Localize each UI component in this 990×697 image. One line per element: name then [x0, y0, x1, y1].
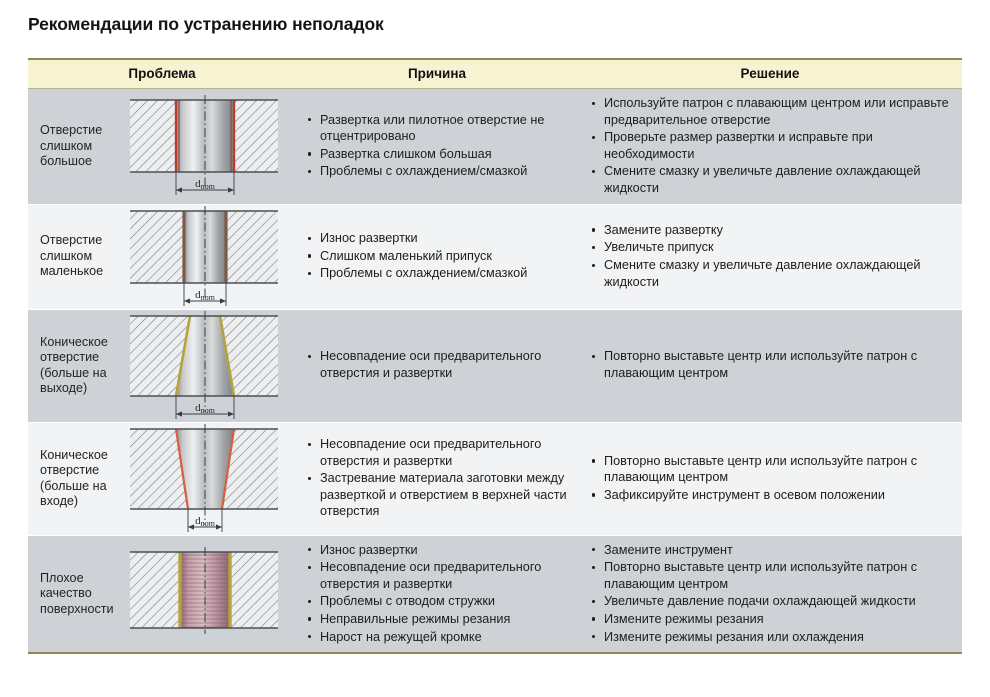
table-row: Плохое качество поверхностиИзнос разверт…	[28, 535, 962, 652]
problem-label: Отверстие слишком маленькое	[28, 233, 124, 280]
solution-item: Повторно выставьте центр или используйте…	[590, 453, 954, 486]
cause-item: Несовпадение оси предварительного отверс…	[306, 436, 572, 469]
cell-solution: Замените разверткуУвеличьте припускСмени…	[578, 204, 962, 309]
svg-text:dnom: dnom	[195, 402, 216, 415]
column-header-solution: Решение	[578, 60, 962, 89]
solution-item: Повторно выставьте центр или используйте…	[590, 348, 954, 381]
cell-problem: Коническое отверстие (больше на выходе)d…	[28, 309, 296, 422]
solution-item: Смените смазку и увеличьте давление охла…	[590, 163, 954, 196]
solution-item: Используйте патрон с плавающим центром и…	[590, 95, 954, 128]
problem-label: Плохое качество поверхности	[28, 571, 124, 618]
solution-item: Замените развертку	[590, 222, 954, 239]
solution-item: Замените инструмент	[590, 542, 954, 559]
solution-list: Замените инструментПовторно выставьте це…	[578, 536, 962, 653]
cause-list: Развертка или пилотное отверстие не отце…	[296, 106, 578, 187]
table-row: Коническое отверстие (больше на выходе)d…	[28, 309, 962, 422]
troubleshooting-table-wrapper: Проблема Причина Решение Отверстие слишк…	[28, 58, 962, 654]
cell-problem: Отверстие слишком маленькоеdnom	[28, 204, 296, 309]
cause-list: Износ разверткиНесовпадение оси предвари…	[296, 536, 578, 653]
problem-inner: Отверстие слишком маленькоеdnom	[28, 205, 296, 309]
table-body: Отверстие слишком большоеdnomРазвертка и…	[28, 89, 962, 653]
solution-list: Повторно выставьте центр или используйте…	[578, 342, 962, 388]
table-header: Проблема Причина Решение	[28, 60, 962, 89]
cell-problem: Отверстие слишком большоеdnom	[28, 89, 296, 205]
cause-list: Износ разверткиСлишком маленький припуск…	[296, 224, 578, 289]
cell-cause: Износ разверткиСлишком маленький припуск…	[296, 204, 578, 309]
page-title: Рекомендации по устранению неполадок	[28, 14, 384, 35]
cause-item: Проблемы с отводом стружки	[306, 593, 572, 610]
cell-solution: Повторно выставьте центр или используйте…	[578, 422, 962, 535]
problem-label: Коническое отверстие (больше на входе)	[28, 448, 124, 510]
problem-inner: Отверстие слишком большоеdnom	[28, 94, 296, 198]
solution-item: Измените режимы резания или охлаждения	[590, 629, 954, 646]
svg-text:dnom: dnom	[195, 515, 216, 528]
solution-list: Замените разверткуУвеличьте припускСмени…	[578, 216, 962, 297]
tapered-hole-wider-at-entry-section-icon: dnom	[124, 423, 284, 535]
troubleshooting-table: Проблема Причина Решение Отверстие слишк…	[28, 60, 962, 652]
problem-label: Отверстие слишком большое	[28, 123, 124, 170]
solution-item: Проверьте размер развертки и исправьте п…	[590, 129, 954, 162]
problem-inner: Плохое качество поверхности	[28, 546, 296, 642]
cause-item: Неправильные режимы резания	[306, 611, 572, 628]
table-row: Отверстие слишком маленькоеdnomИзнос раз…	[28, 204, 962, 309]
solution-item: Повторно выставьте центр или используйте…	[590, 559, 954, 592]
hole-too-small-section-icon: dnom	[124, 205, 284, 309]
cell-solution: Повторно выставьте центр или используйте…	[578, 309, 962, 422]
cause-item: Слишком маленький припуск	[306, 248, 572, 265]
cause-list: Несовпадение оси предварительного отверс…	[296, 430, 578, 527]
solution-item: Зафиксируйте инструмент в осевом положен…	[590, 487, 954, 504]
solution-list: Используйте патрон с плавающим центром и…	[578, 89, 962, 204]
solution-item: Увеличьте давление подачи охлаждающей жи…	[590, 593, 954, 610]
cause-item: Нарост на режущей кромке	[306, 629, 572, 646]
cell-problem: Коническое отверстие (больше на входе)dn…	[28, 422, 296, 535]
table-row: Отверстие слишком большоеdnomРазвертка и…	[28, 89, 962, 205]
solution-item: Измените режимы резания	[590, 611, 954, 628]
cell-solution: Используйте патрон с плавающим центром и…	[578, 89, 962, 205]
cause-item: Проблемы с охлаждением/смазкой	[306, 265, 572, 282]
cause-item: Несовпадение оси предварительного отверс…	[306, 559, 572, 592]
cell-solution: Замените инструментПовторно выставьте це…	[578, 535, 962, 652]
problem-inner: Коническое отверстие (больше на выходе)d…	[28, 310, 296, 422]
tapered-hole-wider-at-exit-section-icon: dnom	[124, 310, 284, 422]
cell-cause: Развертка или пилотное отверстие не отце…	[296, 89, 578, 205]
table-row: Коническое отверстие (больше на входе)dn…	[28, 422, 962, 535]
cell-cause: Износ разверткиНесовпадение оси предвари…	[296, 535, 578, 652]
column-header-cause: Причина	[296, 60, 578, 89]
troubleshooting-page: Рекомендации по устранению неполадок Про…	[0, 0, 990, 697]
cause-item: Износ развертки	[306, 542, 572, 559]
problem-label: Коническое отверстие (больше на выходе)	[28, 335, 124, 397]
cause-item: Развертка слишком большая	[306, 146, 572, 163]
cell-cause: Несовпадение оси предварительного отверс…	[296, 309, 578, 422]
solution-item: Смените смазку и увеличьте давление охла…	[590, 257, 954, 290]
cell-problem: Плохое качество поверхности	[28, 535, 296, 652]
problem-inner: Коническое отверстие (больше на входе)dn…	[28, 423, 296, 535]
hole-too-large-section-icon: dnom	[124, 94, 284, 198]
cell-cause: Несовпадение оси предварительного отверс…	[296, 422, 578, 535]
cause-item: Несовпадение оси предварительного отверс…	[306, 348, 572, 381]
cause-list: Несовпадение оси предварительного отверс…	[296, 342, 578, 388]
cause-item: Износ развертки	[306, 230, 572, 247]
table-header-row: Проблема Причина Решение	[28, 60, 962, 89]
cause-item: Проблемы с охлаждением/смазкой	[306, 163, 572, 180]
solution-list: Повторно выставьте центр или используйте…	[578, 447, 962, 511]
column-header-problem: Проблема	[28, 60, 296, 89]
solution-item: Увеличьте припуск	[590, 239, 954, 256]
cause-item: Застревание материала заготовки между ра…	[306, 470, 572, 520]
cause-item: Развертка или пилотное отверстие не отце…	[306, 112, 572, 145]
poor-surface-finish-section-icon	[124, 546, 284, 642]
